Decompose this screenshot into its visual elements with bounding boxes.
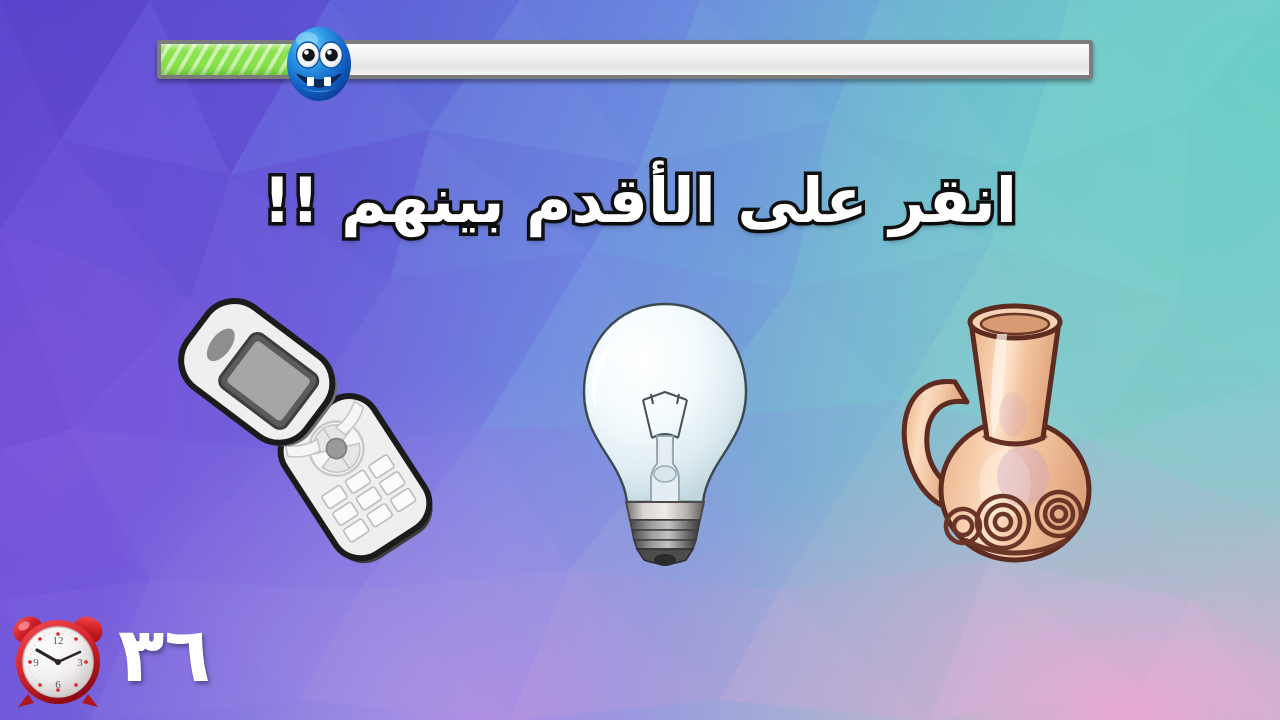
- progress-bar-fill: [161, 44, 319, 75]
- clock-number-3: 3: [77, 657, 83, 669]
- prompt-text: انقر على الأقدم بينهم !!: [0, 168, 1280, 233]
- ancient-jug-icon[interactable]: [855, 288, 1145, 574]
- progress-bar: [157, 40, 1093, 79]
- choice-light-bulb[interactable]: [520, 288, 810, 574]
- flip-phone-icon[interactable]: [180, 288, 470, 574]
- game-screen: انقر على الأقدم بينهم !!: [0, 0, 1280, 720]
- clock-number-12: 12: [53, 635, 64, 647]
- clock-number-9: 9: [33, 657, 39, 669]
- alarm-clock-icon: 12 3 6 9: [6, 606, 110, 710]
- timer-value: ٣٦: [118, 617, 211, 699]
- timer: 12 3 6 9 ٣٦: [6, 602, 211, 714]
- light-bulb-icon[interactable]: [520, 288, 810, 574]
- choices-row: [0, 288, 1280, 574]
- choice-ancient-jug[interactable]: [855, 288, 1145, 574]
- choice-flip-phone[interactable]: [180, 288, 470, 574]
- clock-number-6: 6: [55, 679, 61, 691]
